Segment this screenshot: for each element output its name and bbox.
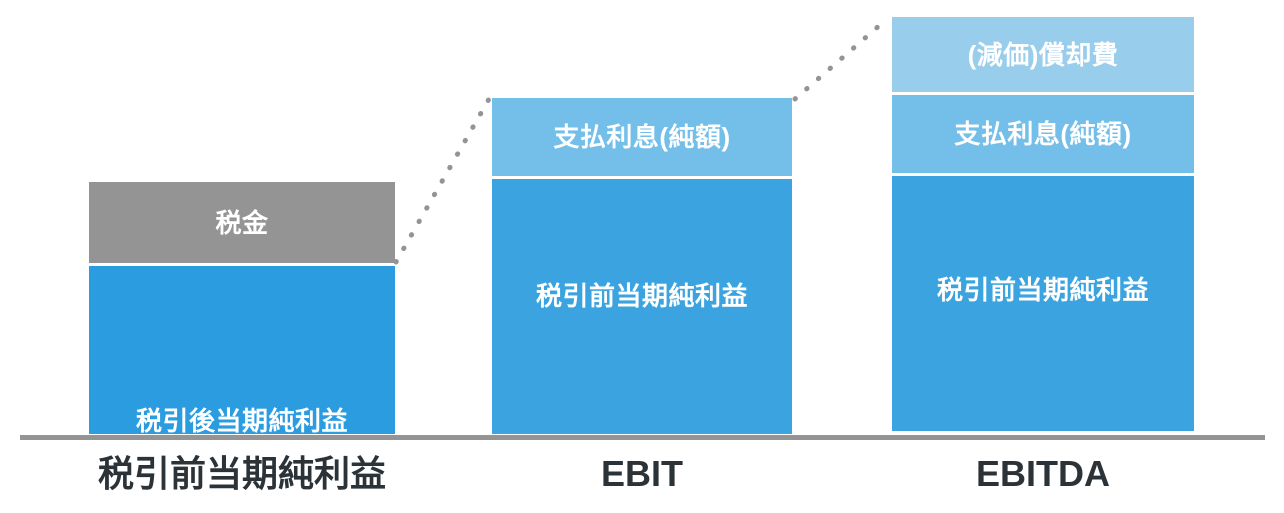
plot-area: 税金 税引後当期純利益 支払利息(純額) 税引前当期純利益 (減価)償却費 支払… — [0, 0, 1284, 437]
x-axis-line — [20, 435, 1265, 440]
x-axis-label-pretax-net-income: 税引前当期純利益 — [60, 443, 424, 505]
x-axis-label-ebit: EBIT — [492, 443, 792, 505]
bar-ebit[interactable]: 支払利息(純額) 税引前当期純利益 — [492, 98, 792, 437]
bar-segment-pretax-net-income-ebitda[interactable]: 税引前当期純利益 — [892, 176, 1194, 431]
bar-segment-depreciation-amortization[interactable]: (減価)償却費 — [892, 17, 1194, 95]
bar-segment-net-interest-expense-ebitda[interactable]: 支払利息(純額) — [892, 95, 1194, 176]
bar-segment-net-income-after-tax[interactable]: 税引後当期純利益 — [89, 266, 395, 434]
bar-segment-label-pretax-net-income-ebitda: 税引前当期純利益 — [937, 277, 1149, 303]
bar-segment-label-net-income-after-tax: 税引後当期純利益 — [136, 408, 348, 434]
bar-ebitda[interactable]: (減価)償却費 支払利息(純額) 税引前当期純利益 — [892, 17, 1194, 437]
x-axis-labels: 税引前当期純利益 EBIT EBITDA — [0, 443, 1284, 513]
bar-segment-label-net-interest-expense-ebit: 支払利息(純額) — [553, 124, 730, 150]
bar-segment-label-net-interest-expense-ebitda: 支払利息(純額) — [954, 121, 1131, 147]
bar-segment-label-pretax-net-income-ebit: 税引前当期純利益 — [536, 283, 748, 309]
bar-segment-tax[interactable]: 税金 — [89, 182, 395, 266]
x-axis-label-ebitda: EBITDA — [872, 443, 1214, 505]
bar-segment-label-tax: 税金 — [215, 210, 268, 236]
stacked-bar-chart: 税金 税引後当期純利益 支払利息(純額) 税引前当期純利益 (減価)償却費 支払… — [0, 0, 1284, 513]
dotted-connector-bar1-to-bar2 — [396, 99, 489, 262]
bar-segment-pretax-net-income-ebit[interactable]: 税引前当期純利益 — [492, 179, 792, 434]
bar-segment-label-depreciation-amortization: (減価)償却費 — [968, 42, 1119, 68]
dotted-connector-bar2-to-bar3 — [795, 18, 888, 99]
bar-pretax-net-income[interactable]: 税金 税引後当期純利益 — [89, 182, 395, 437]
bar-segment-net-interest-expense-ebit[interactable]: 支払利息(純額) — [492, 98, 792, 179]
